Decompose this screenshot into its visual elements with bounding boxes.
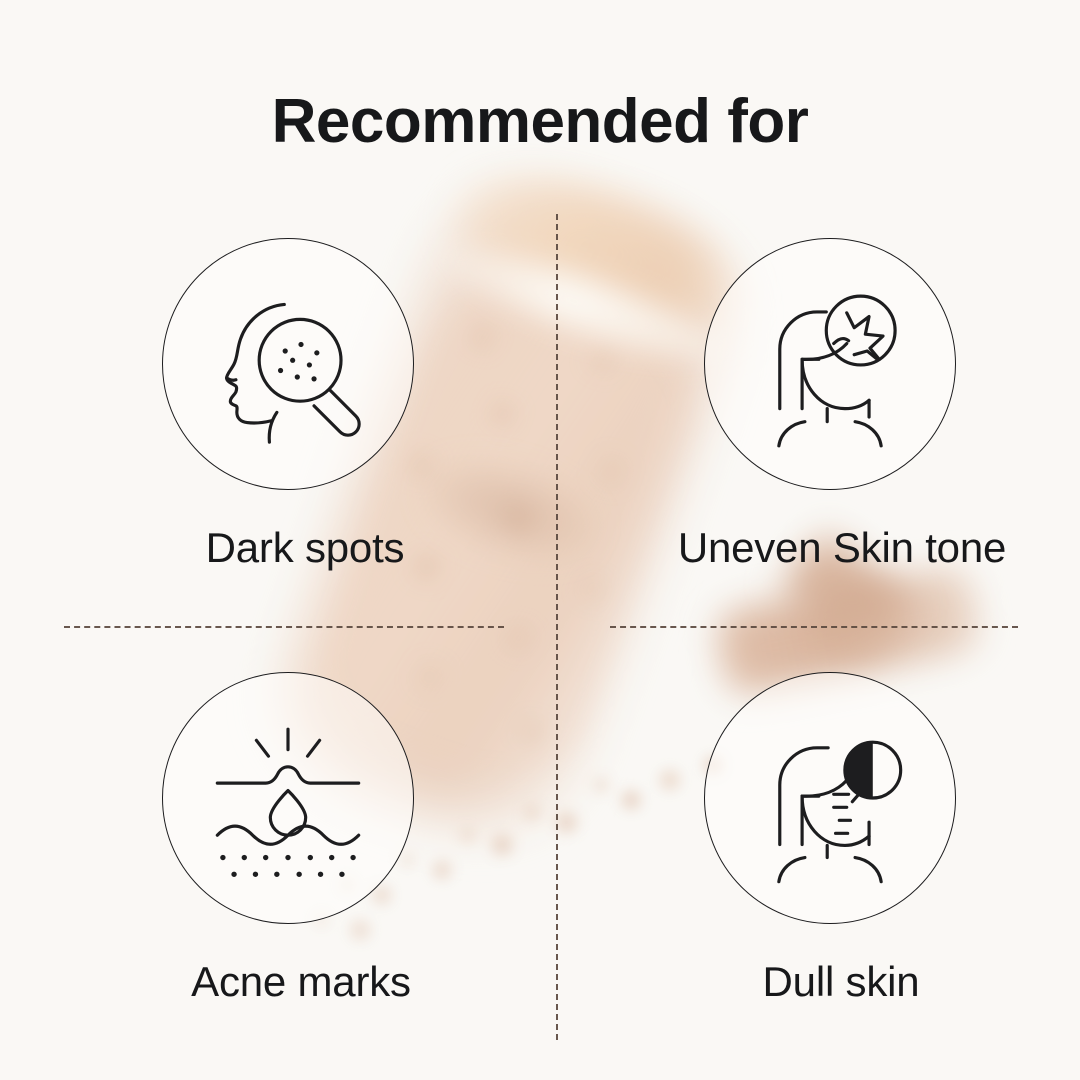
quadrant-uneven-skin-tone[interactable]: Uneven Skin tone [620, 238, 1040, 572]
quadrant-label-uneven-skin-tone: Uneven Skin tone [620, 524, 1040, 572]
page-title: Recommended for [0, 86, 1080, 157]
icon-circle-dark-spots [162, 238, 414, 490]
divider-horizontal-right [610, 626, 1018, 628]
quadrant-acne-marks[interactable]: Acne marks [78, 672, 498, 1006]
skin-bump-droplet-pores-icon [195, 705, 381, 891]
icon-circle-acne-marks [162, 672, 414, 924]
quadrant-label-dull-skin: Dull skin [620, 958, 1040, 1006]
divider-horizontal-left [64, 626, 504, 628]
quadrant-dark-spots[interactable]: Dark spots [78, 238, 498, 572]
face-profile-magnifier-spots-icon [195, 271, 381, 457]
face-bust-patchy-tone-icon [737, 271, 923, 457]
face-bust-contrast-circle-icon [737, 705, 923, 891]
icon-circle-uneven-skin-tone [704, 238, 956, 490]
quadrant-dull-skin[interactable]: Dull skin [620, 672, 1040, 1006]
icon-circle-dull-skin [704, 672, 956, 924]
quadrant-label-acne-marks: Acne marks [78, 958, 498, 1006]
divider-vertical [556, 214, 558, 1040]
quadrant-label-dark-spots: Dark spots [78, 524, 498, 572]
